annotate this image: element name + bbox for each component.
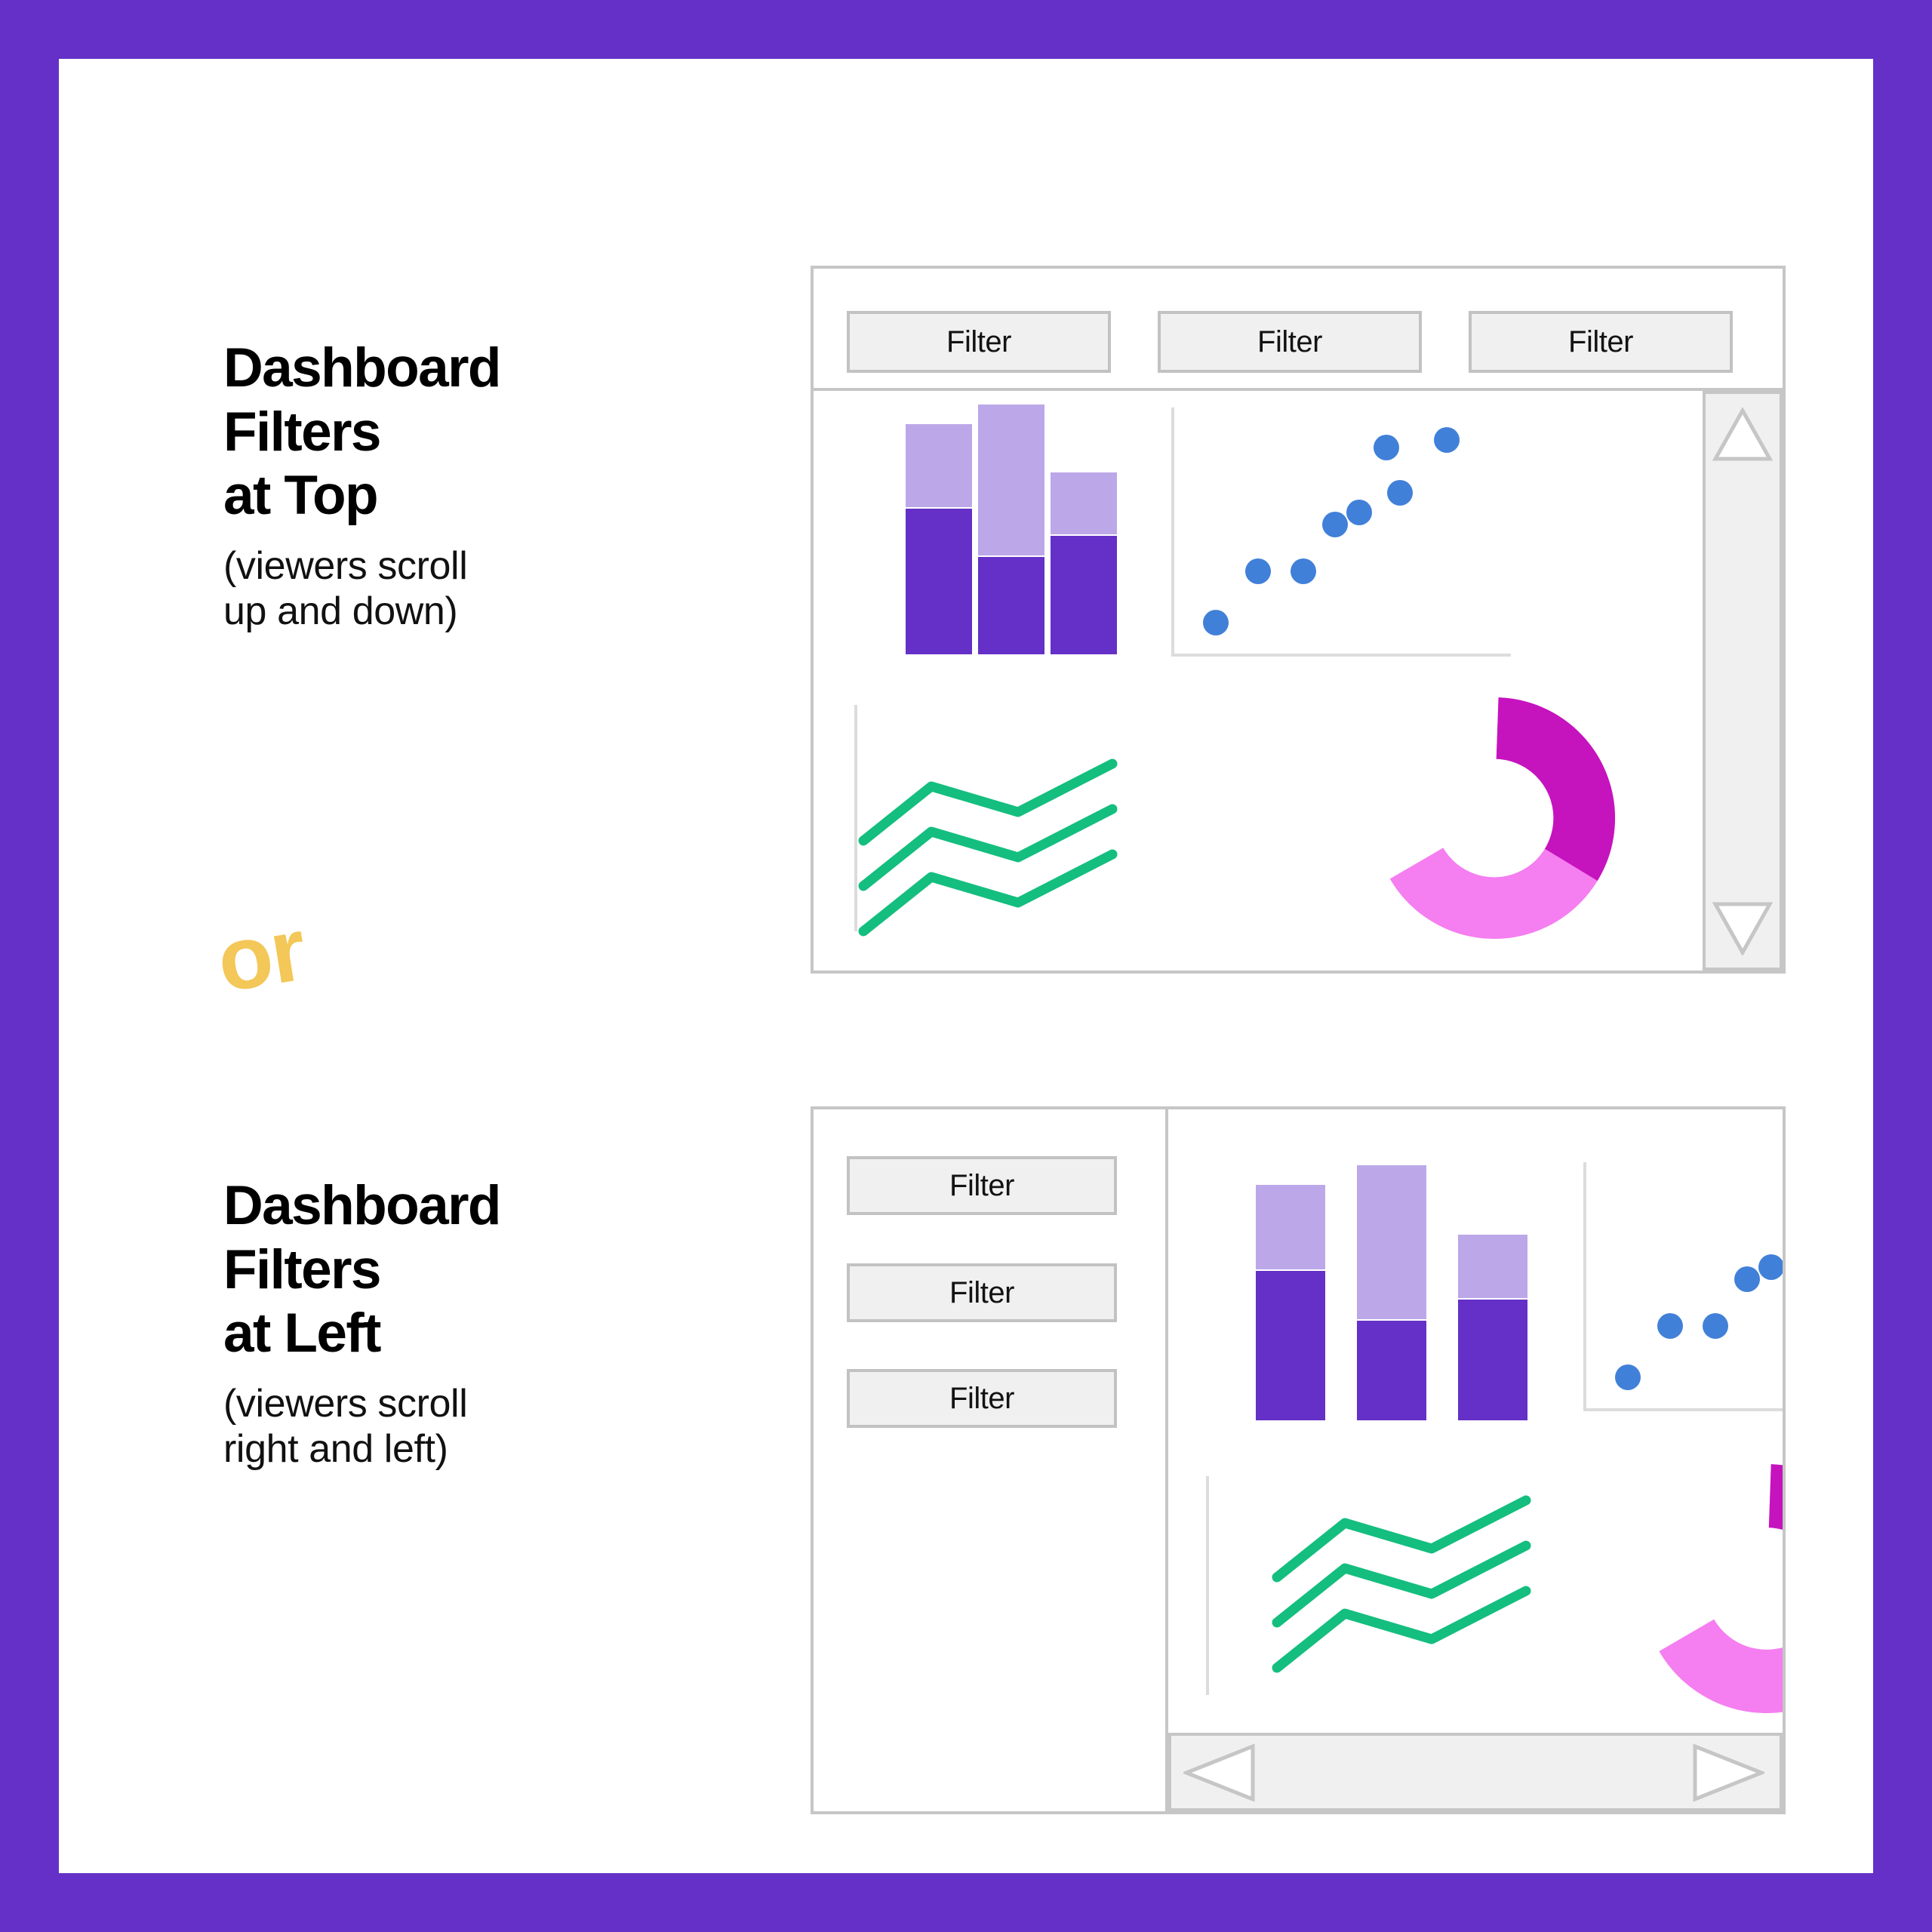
triangle-up-icon[interactable]: [1712, 408, 1773, 462]
triangle-right-icon[interactable]: [1692, 1743, 1764, 1802]
bar-1-lower: [906, 509, 972, 654]
page-subtitle-filters-left: (viewers scroll right and left): [223, 1381, 706, 1472]
bar-3-upper: [1458, 1235, 1527, 1298]
line-y-axis: [1206, 1476, 1209, 1695]
bar-1-lower: [1256, 1271, 1325, 1420]
vertical-scrollbar[interactable]: [1703, 391, 1783, 971]
section-filters-top-text: Dashboard Filters at Top (viewers scroll…: [223, 337, 706, 635]
section-filters-left-text: Dashboard Filters at Left (viewers scrol…: [223, 1174, 706, 1472]
scatter-chart-left: [1583, 1162, 1783, 1434]
bar-2-upper: [978, 405, 1044, 555]
scatter-point: [1615, 1364, 1641, 1390]
scatter-point: [1374, 435, 1399, 460]
filter-button-1[interactable]: Filter: [847, 311, 1111, 373]
scatter-point: [1734, 1266, 1760, 1292]
scatter-chart-top: [1171, 408, 1521, 678]
scatter-y-axis: [1583, 1162, 1586, 1411]
triangle-left-icon[interactable]: [1183, 1743, 1256, 1802]
filter-button-2[interactable]: Filter: [1158, 311, 1422, 373]
filter-button-3-label: Filter: [1568, 325, 1633, 359]
line-chart-left: [1177, 1476, 1555, 1725]
dashboard-filters-top-panel: Filter Filter Filter: [811, 266, 1786, 974]
scatter-x-axis: [1583, 1408, 1783, 1411]
scatter-point: [1657, 1313, 1683, 1339]
scatter-y-axis: [1171, 408, 1174, 657]
scatter-x-axis: [1171, 654, 1511, 657]
filter-button-2-label: Filter: [1257, 325, 1322, 359]
scatter-point: [1245, 558, 1271, 584]
filter-button-1-label: Filter: [946, 325, 1011, 359]
donut-svg: [1642, 1464, 1783, 1713]
filter-button-1-label: Filter: [949, 1169, 1014, 1203]
dashboard-left-content: [1168, 1109, 1783, 1733]
scatter-point: [1758, 1254, 1783, 1280]
scatter-point: [1434, 427, 1460, 453]
line-chart-top: [826, 705, 1203, 954]
donut-chart-left: [1642, 1464, 1783, 1713]
triangle-down-icon[interactable]: [1712, 901, 1773, 955]
horizontal-scrollbar[interactable]: [1168, 1733, 1783, 1811]
scatter-point: [1322, 512, 1348, 537]
bar-3-lower: [1458, 1300, 1527, 1420]
filter-button-3[interactable]: Filter: [847, 1369, 1117, 1428]
filter-button-2-label: Filter: [949, 1276, 1014, 1310]
bar-2-lower: [1357, 1321, 1426, 1420]
dashboard-filters-left-panel: Filter Filter Filter: [811, 1106, 1786, 1814]
connector-or-label: or: [211, 898, 312, 1013]
page-title-filters-left: Dashboard Filters at Left: [223, 1174, 706, 1366]
scatter-point: [1387, 480, 1413, 506]
scatter-point: [1346, 500, 1372, 525]
filter-button-2[interactable]: Filter: [847, 1263, 1117, 1322]
line-series-group: [1269, 1476, 1617, 1725]
bar-3-lower: [1051, 536, 1117, 654]
filter-button-3[interactable]: Filter: [1469, 311, 1733, 373]
bar-3-upper: [1051, 472, 1117, 534]
bar-1-upper: [906, 424, 972, 507]
filter-button-1[interactable]: Filter: [847, 1156, 1117, 1215]
donut-svg: [1374, 697, 1615, 939]
dashboard-top-content: [814, 391, 1703, 971]
scatter-point: [1203, 610, 1229, 635]
scatter-point: [1291, 558, 1316, 584]
poster-canvas: Dashboard Filters at Top (viewers scroll…: [59, 59, 1873, 1873]
filter-sidebar-left: Filter Filter Filter: [814, 1109, 1165, 1811]
filter-button-3-label: Filter: [949, 1382, 1014, 1416]
bar-2-upper: [1357, 1165, 1426, 1319]
donut-chart-top: [1374, 697, 1615, 939]
page-subtitle-filters-top: (viewers scroll up and down): [223, 543, 706, 635]
bar-2-lower: [978, 557, 1044, 654]
bar-1-upper: [1256, 1185, 1325, 1269]
page-title-filters-top: Dashboard Filters at Top: [223, 337, 706, 528]
stacked-bar-chart-left: [1168, 1153, 1591, 1440]
line-series-group: [856, 705, 1203, 954]
filter-bar-top: Filter Filter Filter: [814, 269, 1783, 388]
scatter-point: [1703, 1313, 1728, 1339]
